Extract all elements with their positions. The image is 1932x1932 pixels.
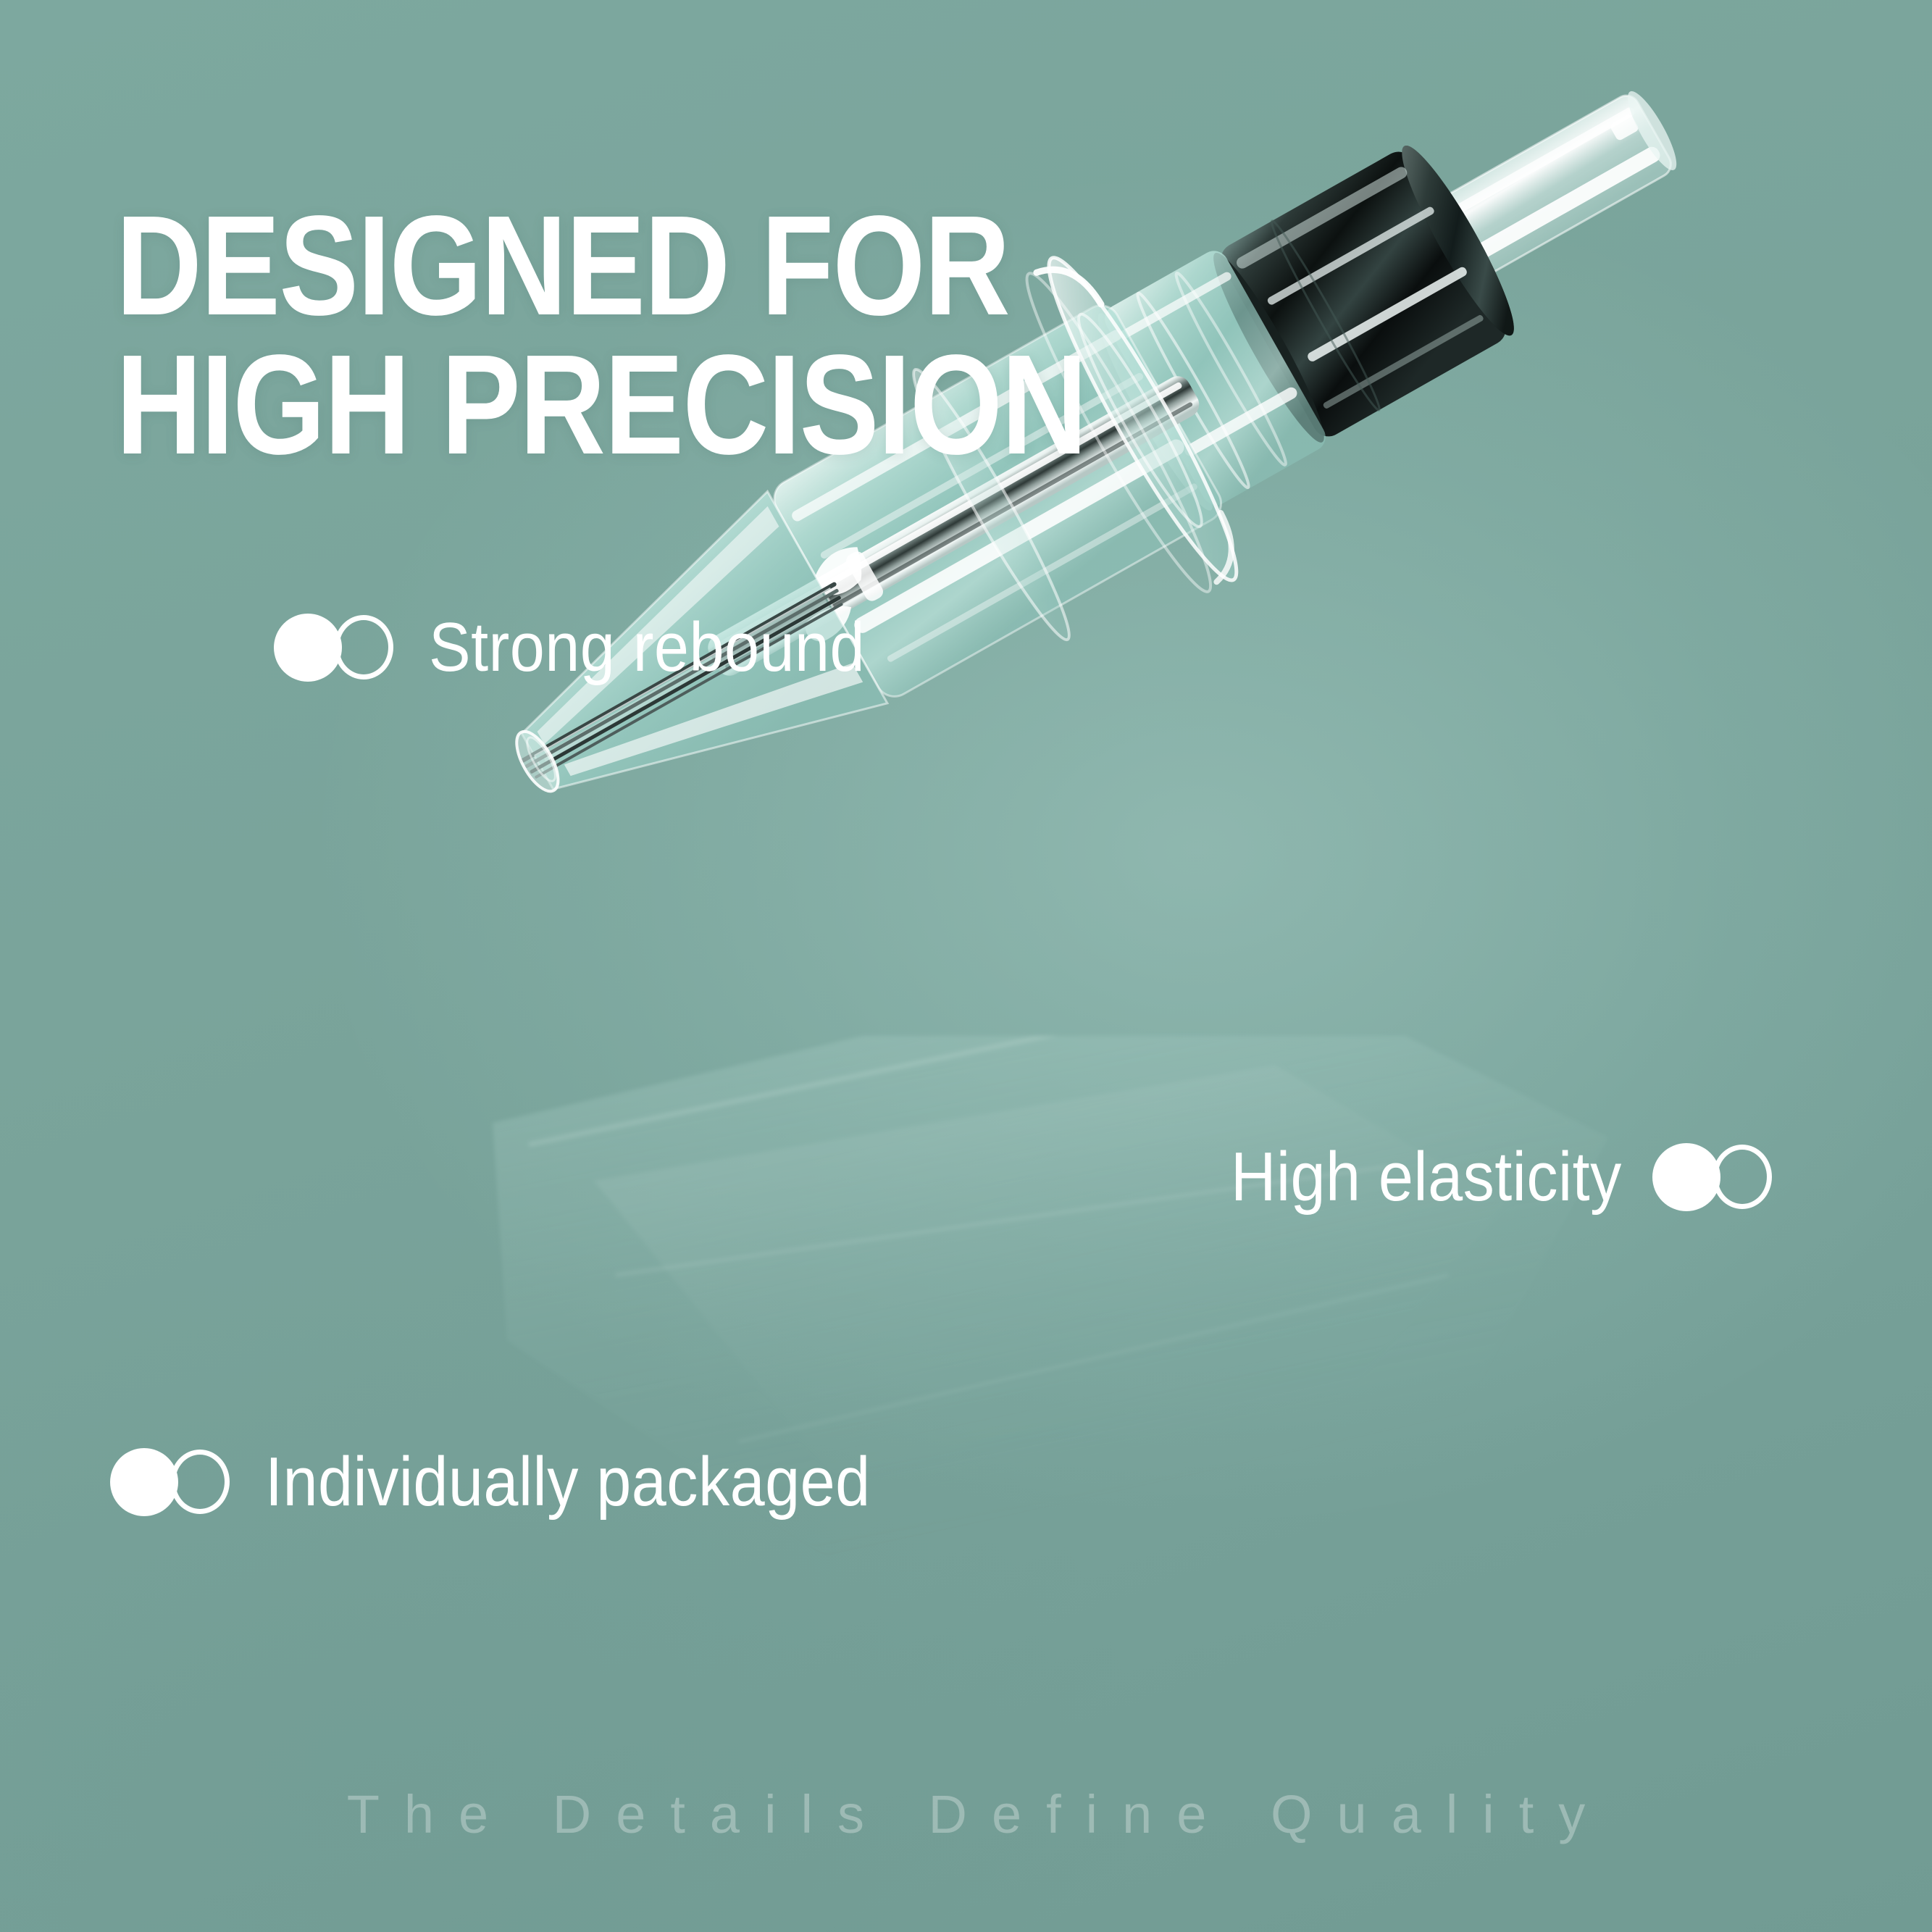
double-circle-icon bbox=[274, 614, 398, 682]
feature-label-individually-packaged: Individually packaged bbox=[265, 1447, 871, 1517]
poster-canvas: DESIGNED FOR HIGH PRECISION Strong rebou… bbox=[0, 0, 1932, 1932]
product-reflection bbox=[377, 1036, 1753, 1688]
feature-item-high-elasticity: High elasticity bbox=[1187, 1142, 1777, 1212]
feature-label-high-elasticity: High elasticity bbox=[1231, 1142, 1622, 1212]
product-image-tattoo-cartridge bbox=[406, 406, 1876, 1152]
feature-item-strong-rebound: Strong rebound bbox=[274, 613, 913, 682]
feature-item-individually-packaged: Individually packaged bbox=[110, 1447, 937, 1517]
double-circle-icon bbox=[110, 1448, 235, 1516]
double-circle-icon bbox=[1652, 1143, 1777, 1211]
footer-tagline: The Details Define Quality bbox=[0, 1783, 1932, 1845]
plunger-rod bbox=[1420, 86, 1684, 289]
tip-opening bbox=[509, 725, 566, 798]
feature-label-strong-rebound: Strong rebound bbox=[429, 613, 865, 682]
page-title: DESIGNED FOR HIGH PRECISION bbox=[116, 196, 1272, 474]
